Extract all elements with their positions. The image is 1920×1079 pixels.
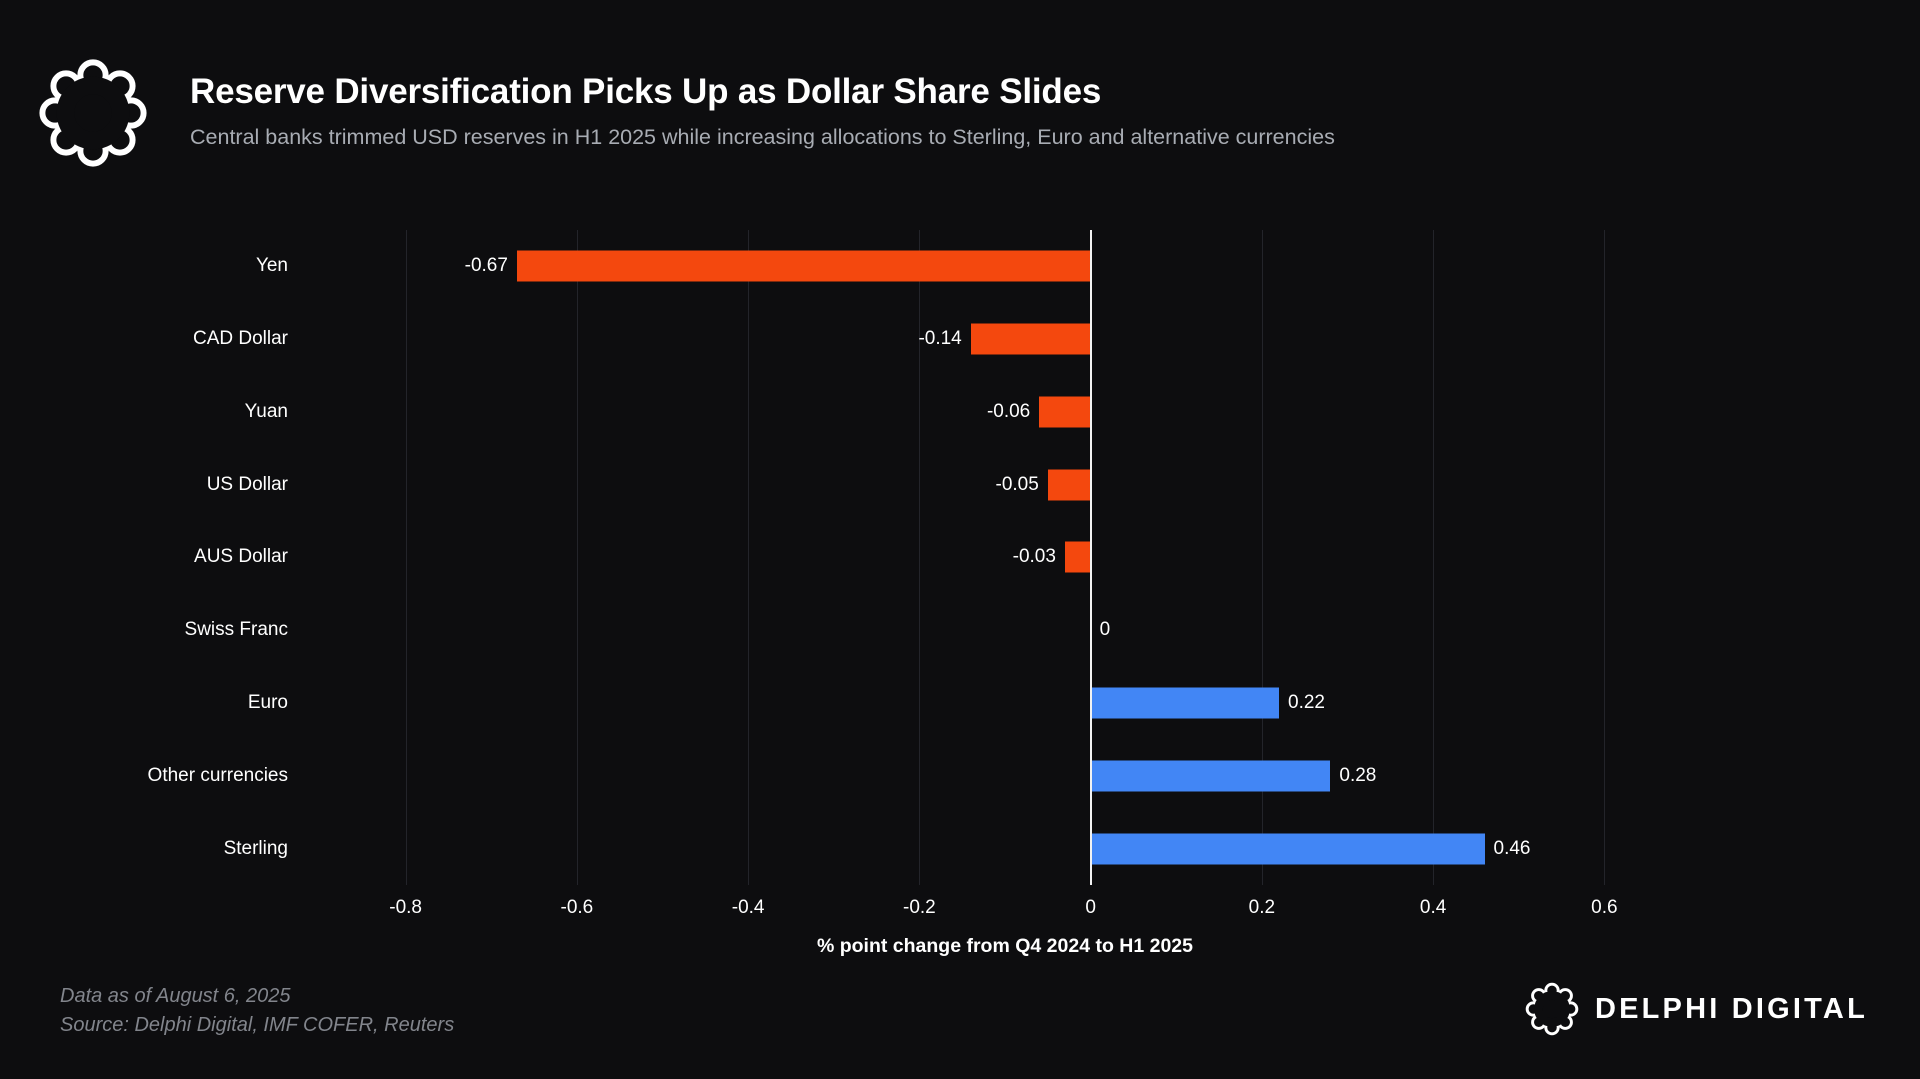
bar-row[interactable]: Swiss Franc0 — [320, 594, 1690, 667]
y-axis-category-label: CAD Dollar — [193, 328, 288, 350]
y-axis-category-label: AUS Dollar — [194, 546, 288, 568]
bar-value-label: -0.67 — [465, 255, 508, 277]
bar-value-label: -0.14 — [918, 328, 961, 350]
x-axis: -0.8-0.6-0.4-0.200.20.40.6 — [320, 885, 1690, 925]
bar[interactable] — [1091, 688, 1279, 719]
bar-value-label: 0 — [1100, 619, 1111, 641]
bar-row[interactable]: US Dollar-0.05 — [320, 448, 1690, 521]
zero-axis-line — [1090, 230, 1092, 885]
y-axis-category-label: Other currencies — [148, 765, 288, 787]
bar-row[interactable]: CAD Dollar-0.14 — [320, 303, 1690, 376]
footer-wordmark: DELPHI DIGITAL — [1595, 993, 1868, 1026]
bar-value-label: 0.22 — [1288, 692, 1325, 714]
bar-row[interactable]: Yuan-0.06 — [320, 376, 1690, 449]
footer-brand: DELPHI DIGITAL — [1525, 982, 1868, 1036]
chart-page: Reserve Diversification Picks Up as Doll… — [0, 0, 1920, 1079]
bar-value-label: 0.46 — [1494, 838, 1531, 860]
y-axis-category-label: Sterling — [224, 838, 288, 860]
bar-row[interactable]: AUS Dollar-0.03 — [320, 521, 1690, 594]
x-axis-tick-label: 0.4 — [1420, 897, 1446, 919]
bar-row[interactable]: Other currencies0.28 — [320, 739, 1690, 812]
bar[interactable] — [971, 324, 1091, 355]
bar-value-label: 0.28 — [1339, 765, 1376, 787]
plot-area: Yen-0.67CAD Dollar-0.14Yuan-0.06US Dolla… — [320, 230, 1690, 885]
y-axis-category-label: Swiss Franc — [185, 619, 288, 641]
page-subtitle: Central banks trimmed USD reserves in H1… — [190, 125, 1890, 151]
data-as-of-text: Data as of August 6, 2025 — [60, 982, 454, 1011]
delphi-digital-knot-logo — [38, 58, 148, 168]
bar-row[interactable]: Sterling0.46 — [320, 812, 1690, 885]
bar-value-label: -0.05 — [996, 474, 1039, 496]
x-axis-tick-label: -0.2 — [903, 897, 936, 919]
y-axis-category-label: Yuan — [245, 401, 288, 423]
bar[interactable] — [1091, 833, 1485, 864]
x-axis-tick-label: -0.8 — [389, 897, 422, 919]
bar[interactable] — [517, 251, 1091, 282]
bar-value-label: -0.03 — [1013, 546, 1056, 568]
x-axis-tick-label: 0.6 — [1591, 897, 1617, 919]
y-axis-category-label: Euro — [248, 692, 288, 714]
bar-value-label: -0.06 — [987, 401, 1030, 423]
footer-note: Data as of August 6, 2025 Source: Delphi… — [60, 982, 454, 1040]
page-title: Reserve Diversification Picks Up as Doll… — [190, 72, 1890, 112]
bar-row[interactable]: Yen-0.67 — [320, 230, 1690, 303]
bar[interactable] — [1039, 396, 1090, 427]
chart-header: Reserve Diversification Picks Up as Doll… — [0, 0, 1920, 190]
bar[interactable] — [1091, 760, 1331, 791]
delphi-digital-knot-logo — [1525, 982, 1579, 1036]
y-axis-category-label: Yen — [256, 255, 288, 277]
x-axis-title: % point change from Q4 2024 to H1 2025 — [320, 935, 1690, 958]
x-axis-tick-label: -0.6 — [561, 897, 594, 919]
x-axis-tick-label: 0.2 — [1249, 897, 1275, 919]
bar[interactable] — [1065, 542, 1091, 573]
source-text: Source: Delphi Digital, IMF COFER, Reute… — [60, 1011, 454, 1040]
x-axis-tick-label: -0.4 — [732, 897, 765, 919]
y-axis-category-label: US Dollar — [207, 474, 288, 496]
bar-row[interactable]: Euro0.22 — [320, 667, 1690, 740]
x-axis-tick-label: 0 — [1085, 897, 1096, 919]
bar[interactable] — [1048, 469, 1091, 500]
title-block: Reserve Diversification Picks Up as Doll… — [190, 72, 1890, 151]
